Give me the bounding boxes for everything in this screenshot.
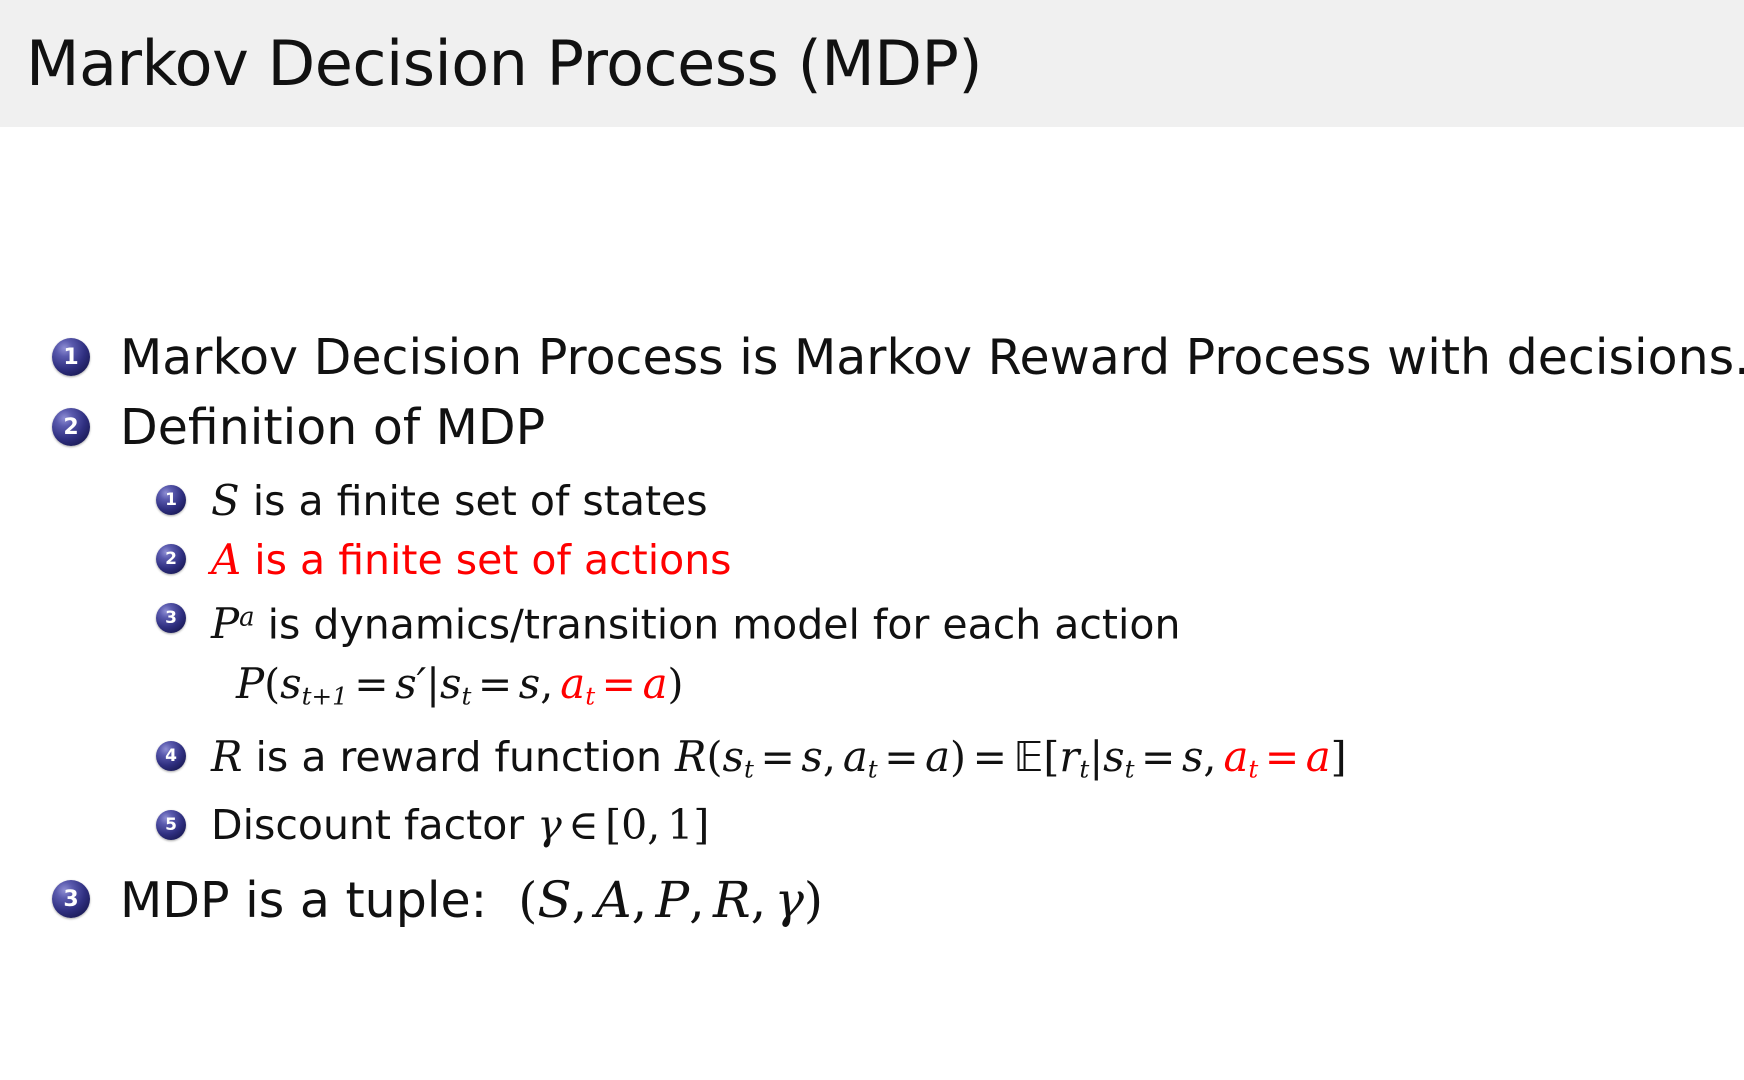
enumerate-marker-1: 1: [52, 338, 90, 376]
math-state-value: s: [801, 732, 822, 781]
math-action-value: a: [643, 659, 668, 708]
math-comma: ,: [540, 660, 560, 708]
enumerate-marker-2-5: 5: [156, 810, 186, 840]
sub-list-item-text-highlighted: A is a finite set of actions: [211, 531, 732, 589]
list-item-text: MDP is a tuple: (S,A,P,R,γ): [120, 866, 823, 935]
list-item-label: MDP is a tuple:: [120, 872, 487, 929]
math-element-of: ∈: [562, 801, 605, 849]
math-state: s: [723, 732, 744, 781]
enumerate-marker-3: 3: [52, 880, 90, 918]
sub-list-item-label: is dynamics/transition model for each ac…: [268, 600, 1181, 648]
math-equals-3: =: [595, 660, 642, 708]
slide-title-band: Markov Decision Process (MDP): [0, 0, 1744, 127]
math-action-2: a: [1223, 732, 1248, 781]
math-equals-5: =: [1258, 733, 1305, 781]
math-symbol-s: S: [211, 476, 240, 525]
enumerate-marker-2-1: 1: [156, 485, 186, 515]
math-tuple-a: A: [596, 871, 632, 929]
math-tuple-close: ): [804, 872, 823, 929]
math-paren-open: (: [264, 660, 280, 708]
math-tuple-s: S: [537, 871, 571, 929]
math-interval-open: [: [605, 801, 621, 849]
math-state-2-value: s: [1182, 732, 1203, 781]
reward-formula: R(st=s,at=a)=𝔼[rt|st=s,at=a]: [675, 733, 1347, 781]
sub-list-item-text: Pa is dynamics/transition model for each…: [211, 590, 1180, 653]
enumerate-marker-2: 2: [52, 408, 90, 446]
math-equals-1: =: [348, 660, 395, 708]
math-gamma: γ: [537, 801, 562, 849]
math-expectation-icon: 𝔼: [1014, 733, 1044, 781]
math-symbol-r: R: [211, 732, 242, 781]
transition-formula: P(st+1=s′|st=s,at=a): [181, 653, 1732, 727]
slide-content: 1 Markov Decision Process is Markov Rewa…: [0, 127, 1744, 1080]
math-equals-1: =: [754, 733, 801, 781]
math-paren-close: ): [950, 733, 966, 781]
list-item: 1 Markov Decision Process is Markov Rewa…: [52, 324, 1732, 392]
math-state-next: s: [280, 659, 301, 708]
sub-list-item: 1 S is a finite set of states: [156, 472, 1732, 530]
sub-list-item-label: is a reward function: [256, 733, 662, 781]
math-interval-close: ]: [693, 801, 709, 849]
math-tuple-gamma: γ: [775, 872, 804, 929]
math-state-subscript: t: [744, 754, 754, 783]
math-paren-open: (: [707, 733, 723, 781]
math-action: a: [843, 732, 868, 781]
math-state-prime: s′: [395, 659, 426, 708]
sub-list-item: 5 Discount factor γ∈[0,1]: [156, 797, 1732, 854]
math-equals-3: =: [966, 733, 1013, 781]
enumerate-level-1: 1 Markov Decision Process is Markov Rewa…: [52, 324, 1732, 935]
math-tuple-comma-4: ,: [751, 872, 775, 929]
enumerate-marker-2-4: 4: [156, 741, 186, 771]
math-interval-comma: ,: [647, 801, 667, 849]
math-fn-r: R: [675, 732, 706, 781]
sub-list-item-label: Discount factor: [211, 801, 524, 849]
math-state-2-subscript: t: [1125, 754, 1135, 783]
math-interval-low: 0: [621, 801, 647, 849]
math-tuple-p: P: [656, 871, 690, 929]
math-action-subscript: t: [585, 682, 595, 711]
page-title: Markov Decision Process (MDP): [26, 33, 982, 95]
list-item: 3 MDP is a tuple: (S,A,P,R,γ): [52, 866, 1732, 935]
math-state: s: [440, 659, 461, 708]
math-paren-close: ): [668, 660, 684, 708]
math-symbol-a: A: [211, 535, 241, 584]
discount-formula: γ∈[0,1]: [537, 801, 709, 849]
math-action-group-highlighted: at=a: [560, 660, 667, 708]
math-action-2-value: a: [1306, 732, 1331, 781]
math-action-value: a: [925, 732, 950, 781]
math-tuple-comma-1: ,: [572, 872, 596, 929]
math-fn-p: P: [236, 659, 264, 708]
math-equals-2: =: [878, 733, 925, 781]
math-bracket-close: ]: [1331, 733, 1347, 781]
sub-list-item: 4 R is a reward function R(st=s,at=a)=𝔼[…: [156, 728, 1732, 797]
math-action-2-subscript: t: [1248, 754, 1258, 783]
math-tuple-r: R: [713, 871, 751, 929]
math-comma-2: ,: [1203, 733, 1223, 781]
math-action: a: [560, 659, 585, 708]
math-conditional-bar: |: [426, 660, 440, 708]
math-tuple-open: (: [518, 872, 537, 929]
list-item: 2 Definition of MDP: [52, 394, 1732, 462]
math-action-group-highlighted: at=a: [1223, 733, 1330, 781]
math-superscript-a: a: [239, 603, 254, 633]
enumerate-marker-2-3: 3: [156, 603, 186, 633]
math-reward: r: [1059, 732, 1079, 781]
sub-list-item-label: is a finite set of actions: [254, 536, 731, 584]
math-tuple-comma-3: ,: [689, 872, 713, 929]
math-equals-2: =: [471, 660, 518, 708]
math-interval-high: 1: [667, 801, 693, 849]
math-state-next-subscript: t+1: [302, 682, 348, 711]
sub-list-item: 2 A is a finite set of actions: [156, 531, 1732, 589]
math-tuple-comma-2: ,: [632, 872, 656, 929]
list-item-text: Markov Decision Process is Markov Reward…: [120, 324, 1744, 392]
math-symbol-p-base: P: [211, 599, 239, 648]
math-equals-4: =: [1135, 733, 1182, 781]
sub-list-item-text: Discount factor γ∈[0,1]: [211, 797, 709, 854]
sub-list-item-label: is a finite set of states: [253, 477, 708, 525]
sub-list-item: 3 Pa is dynamics/transition model for ea…: [156, 590, 1732, 653]
math-action-subscript: t: [868, 754, 878, 783]
math-state-subscript: t: [461, 682, 471, 711]
math-state-value: s: [519, 659, 540, 708]
enumerate-level-2: 1 S is a finite set of states 2 A is a f…: [156, 472, 1732, 854]
sub-list-item-text: R is a reward function R(st=s,at=a)=𝔼[rt…: [211, 728, 1347, 797]
math-reward-subscript: t: [1079, 754, 1089, 783]
math-comma-1: ,: [823, 733, 843, 781]
math-bracket-open: [: [1043, 733, 1059, 781]
math-state-2: s: [1103, 732, 1124, 781]
math-conditional-bar: |: [1089, 733, 1103, 781]
sub-list-item-text: S is a finite set of states: [211, 472, 708, 530]
enumerate-marker-2-2: 2: [156, 544, 186, 574]
mdp-tuple: (S,A,P,R,γ): [503, 872, 823, 929]
math-symbol-p: Pa: [211, 599, 255, 648]
list-item-text: Definition of MDP: [120, 394, 545, 462]
